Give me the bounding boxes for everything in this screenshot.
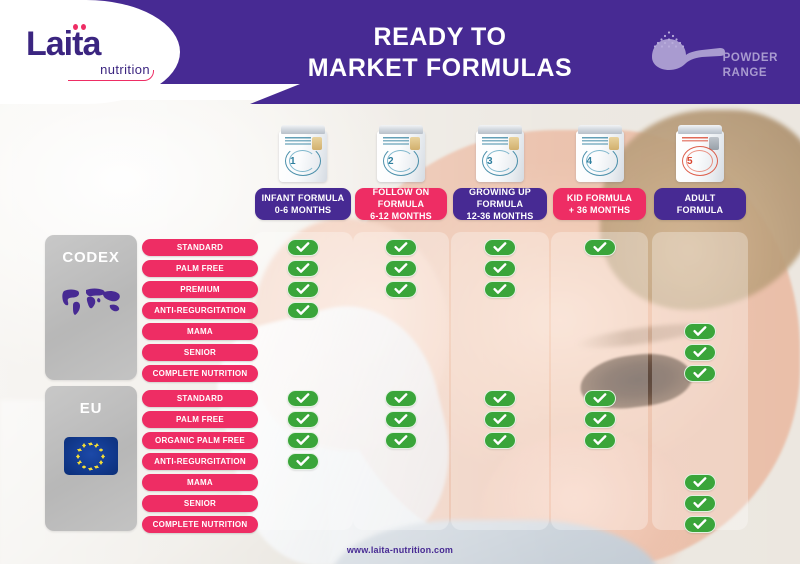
column-header-title: ADULT (685, 192, 716, 204)
column-header-title: GROWING UP FORMULA (453, 186, 547, 210)
row-label-eu-6[interactable]: COMPLETE NUTRITION (142, 516, 258, 533)
can-lid (678, 125, 722, 134)
can-lid (379, 125, 423, 134)
check-icon (385, 390, 417, 407)
column-header-growing-up[interactable]: GROWING UP FORMULA12-36 MONTHS (453, 188, 547, 220)
region-label-eu: EU (80, 400, 102, 417)
check-icon (484, 281, 516, 298)
eu-star-icon (101, 454, 105, 457)
eu-star-icon (99, 460, 103, 463)
world-map-icon (60, 286, 122, 316)
logo-swoosh-icon (68, 70, 154, 81)
powder-range-line-1: POWDER (723, 51, 778, 67)
check-icon (684, 365, 716, 382)
check-icon (584, 432, 616, 449)
check-icon (287, 411, 319, 428)
check-icon (287, 432, 319, 449)
check-icon (684, 323, 716, 340)
check-icon (287, 281, 319, 298)
region-art-codex (60, 286, 122, 321)
check-icon (684, 516, 716, 533)
row-label-codex-2[interactable]: PREMIUM (142, 281, 258, 298)
column-band-kid (551, 232, 648, 530)
eu-star-icon (95, 465, 99, 468)
logo-wordmark: Laita (26, 27, 100, 61)
check-icon (684, 474, 716, 491)
check-icon (484, 411, 516, 428)
check-icon (584, 239, 616, 256)
eu-star-icon (78, 460, 82, 463)
column-header-title: FOLLOW ON FORMULA (355, 186, 447, 210)
can-lid (281, 125, 325, 134)
region-label-codex: CODEX (62, 249, 119, 266)
row-label-codex-0[interactable]: STANDARD (142, 239, 258, 256)
column-header-infant[interactable]: INFANT FORMULA0-6 MONTHS (255, 188, 351, 220)
eu-star-icon (89, 442, 93, 445)
eu-star-icon (82, 465, 86, 468)
spoon-with-powder-icon (648, 30, 726, 76)
eu-star-icon (95, 443, 99, 446)
product-can-kid: 4 (576, 124, 624, 182)
check-icon (684, 344, 716, 361)
can-label-text (582, 137, 608, 145)
column-header-subtitle: FORMULA (677, 204, 723, 216)
check-icon (484, 390, 516, 407)
logo-wordmark-text: Laita (26, 25, 100, 63)
check-icon (287, 302, 319, 319)
column-header-title: KID FORMULA (567, 192, 632, 204)
check-icon (484, 239, 516, 256)
can-lid (478, 125, 522, 134)
can-label-text (682, 137, 708, 145)
product-can-row: 12345 (0, 124, 800, 184)
check-icon (287, 260, 319, 277)
logo-panel: Laita nutrition (0, 0, 180, 104)
brand-logo: Laita nutrition (26, 27, 154, 77)
eu-star-icon (89, 467, 93, 470)
product-can-growing-up: 3 (476, 124, 524, 182)
footer-website-url[interactable]: www.laita-nutrition.com (0, 545, 800, 555)
eu-star-icon (76, 454, 80, 457)
can-stage-number: 1 (290, 156, 296, 167)
row-label-codex-6[interactable]: COMPLETE NUTRITION (142, 365, 258, 382)
product-can-adult: 5 (676, 124, 724, 182)
can-label-text (383, 137, 409, 145)
column-header-adult[interactable]: ADULTFORMULA (654, 188, 746, 220)
can-lid (578, 125, 622, 134)
product-can-infant: 1 (279, 124, 327, 182)
eu-star-icon (99, 448, 103, 451)
row-label-eu-4[interactable]: MAMA (142, 474, 258, 491)
check-icon (484, 260, 516, 277)
poster-page: Laita nutrition READY TO MARKET FORMULAS (0, 0, 800, 564)
check-icon (385, 239, 417, 256)
page-title-line-2: MARKET FORMULAS (250, 53, 630, 84)
region-panel-codex: CODEX (45, 235, 137, 380)
check-icon (287, 453, 319, 470)
check-icon (385, 432, 417, 449)
can-label-text (482, 137, 508, 145)
column-header-follow-on[interactable]: FOLLOW ON FORMULA6-12 MONTHS (355, 188, 447, 220)
check-icon (287, 239, 319, 256)
page-title: READY TO MARKET FORMULAS (250, 22, 630, 83)
powder-range-label: POWDER RANGE (723, 51, 778, 82)
umlaut-dots-icon (73, 24, 86, 30)
check-icon (584, 411, 616, 428)
row-label-eu-2[interactable]: ORGANIC PALM FREE (142, 432, 258, 449)
column-header-subtitle: 12-36 MONTHS (467, 210, 534, 222)
check-icon (484, 432, 516, 449)
powder-range-badge: POWDER RANGE (648, 24, 778, 86)
column-header-title: INFANT FORMULA (262, 192, 345, 204)
row-label-eu-1[interactable]: PALM FREE (142, 411, 258, 428)
product-can-follow-on: 2 (377, 124, 425, 182)
check-icon (684, 495, 716, 512)
check-icon (584, 390, 616, 407)
check-icon (385, 411, 417, 428)
can-label-text (285, 137, 311, 145)
row-label-codex-3[interactable]: ANTI-REGURGITATION (142, 302, 258, 319)
region-panel-eu: EU (45, 386, 137, 531)
can-stage-number: 2 (388, 156, 394, 167)
row-label-codex-1[interactable]: PALM FREE (142, 260, 258, 277)
check-icon (385, 281, 417, 298)
can-stage-number: 5 (687, 156, 693, 167)
eu-flag-icon (64, 437, 118, 475)
column-header-subtitle: 0-6 MONTHS (275, 204, 332, 216)
row-label-eu-5[interactable]: SENIOR (142, 495, 258, 512)
check-icon (385, 260, 417, 277)
column-header-kid[interactable]: KID FORMULA+ 36 MONTHS (553, 188, 646, 220)
row-label-codex-5[interactable]: SENIOR (142, 344, 258, 361)
row-label-codex-4[interactable]: MAMA (142, 323, 258, 340)
column-header-subtitle: + 36 MONTHS (569, 204, 630, 216)
eu-star-icon (82, 443, 86, 446)
powder-range-line-2: RANGE (723, 66, 778, 82)
can-stage-number: 4 (587, 156, 593, 167)
row-label-eu-3[interactable]: ANTI-REGURGITATION (142, 453, 258, 470)
can-stage-number: 3 (487, 156, 493, 167)
page-title-line-1: READY TO (250, 22, 630, 53)
region-art-eu (64, 437, 118, 475)
eu-star-icon (78, 448, 82, 451)
column-header-subtitle: 6-12 MONTHS (370, 210, 432, 222)
check-icon (287, 390, 319, 407)
row-label-eu-0[interactable]: STANDARD (142, 390, 258, 407)
logo-tagline: nutrition (26, 62, 154, 77)
